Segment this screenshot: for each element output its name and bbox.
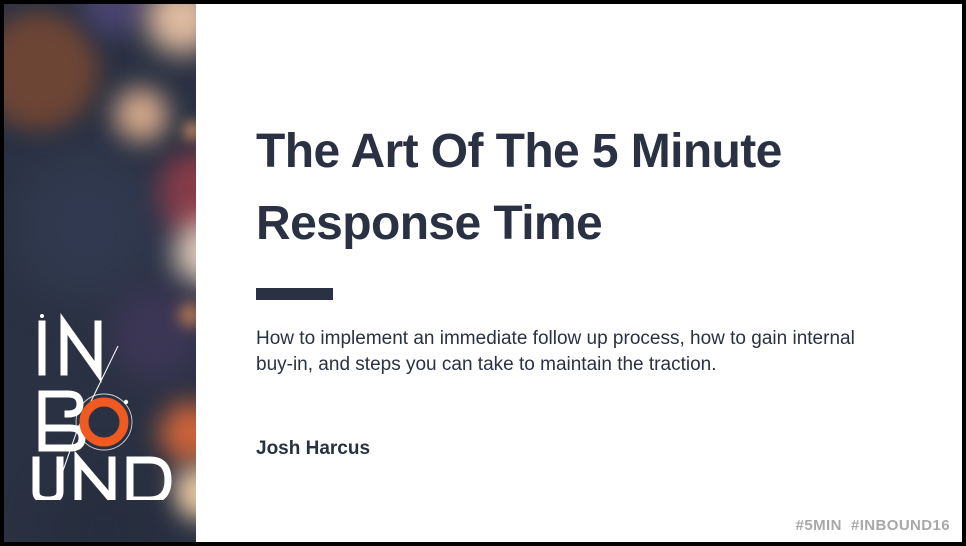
content-panel: The Art Of The 5 Minute Response Time Ho… <box>196 4 962 542</box>
bokeh-orange-dot <box>184 122 196 140</box>
bokeh-navy-glow <box>12 150 162 300</box>
left-bokeh-panel: IN B O UND <box>4 4 196 542</box>
bokeh-peach-mid <box>114 88 168 142</box>
hashtag-footer: #5MIN #INBOUND16 <box>796 517 950 534</box>
bokeh-red-right <box>156 152 196 238</box>
bokeh-cream-right <box>172 220 196 286</box>
inbound-logo: IN B O UND <box>26 310 186 500</box>
bokeh-peach-topright <box>146 4 196 54</box>
slide-title: The Art Of The 5 Minute Response Time <box>256 116 916 260</box>
logo-orange-ring <box>84 402 124 442</box>
slide-canvas: IN B O UND The Art Of The 5 Minute Respo… <box>4 4 962 542</box>
title-divider <box>256 288 333 300</box>
bokeh-purple-top <box>82 4 148 36</box>
bokeh-brown-large <box>4 12 98 130</box>
slide-subtitle: How to implement an immediate follow up … <box>256 326 896 378</box>
speaker-name: Josh Harcus <box>256 436 370 462</box>
